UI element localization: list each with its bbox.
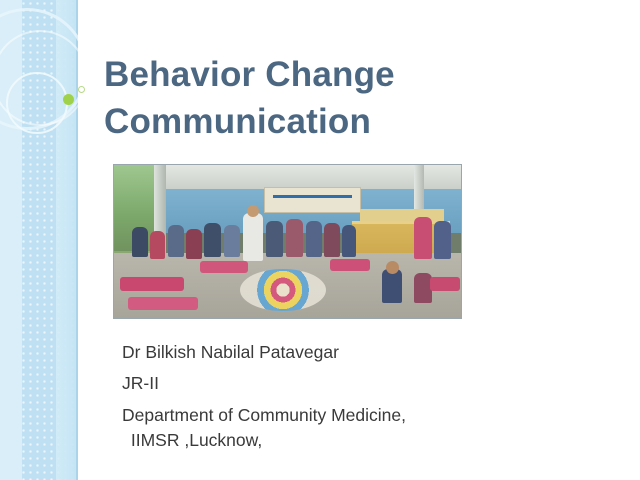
photo-floor-mat [128, 297, 198, 310]
photo-canvas [114, 165, 461, 318]
photo-person-seated [382, 269, 402, 303]
photo-floor-mat [120, 277, 184, 291]
slide-title: Behavior Change Communication [104, 52, 574, 145]
photo-floor-mat [200, 261, 248, 273]
decorative-circle-small-icon [6, 72, 68, 134]
slide-title-line-1: Behavior Change [104, 52, 574, 99]
photo-person [132, 227, 148, 257]
photo-person [286, 219, 303, 257]
photo-floor-mat [330, 259, 370, 271]
accent-dot-icon [63, 94, 74, 105]
slide-body-text: Dr Bilkish Nabilal Patavegar JR-II Depar… [122, 340, 562, 460]
photo-person [434, 221, 451, 259]
photo-person-head [386, 261, 399, 274]
photo-person-head [247, 205, 259, 217]
photo-person [342, 225, 356, 257]
photo-person [306, 221, 322, 257]
body-line-institution: IIMSR ,Lucknow, [122, 428, 562, 453]
photo-person-standing [243, 213, 263, 261]
slide-left-decoration-band [0, 0, 78, 480]
photo-banner-text-line [273, 195, 352, 198]
photo-person [266, 221, 283, 257]
slide-title-line-2: Communication [104, 99, 574, 146]
body-line-presenter: Dr Bilkish Nabilal Patavegar [122, 340, 562, 365]
photo-floor-mat [430, 277, 460, 291]
accent-dot-outline-icon [78, 86, 85, 93]
photo-person [324, 223, 340, 257]
photo-person [186, 229, 202, 259]
photo-person [168, 225, 184, 257]
body-line-department: Department of Community Medicine, [122, 403, 562, 428]
slide-photo [113, 164, 462, 319]
photo-rangoli [240, 269, 326, 311]
photo-person [150, 231, 165, 259]
body-line-designation: JR-II [122, 371, 562, 396]
photo-person [224, 225, 240, 257]
presentation-slide: Behavior Change Communication [0, 0, 640, 480]
photo-banner [264, 187, 361, 213]
photo-person [204, 223, 221, 257]
photo-person [414, 217, 432, 259]
